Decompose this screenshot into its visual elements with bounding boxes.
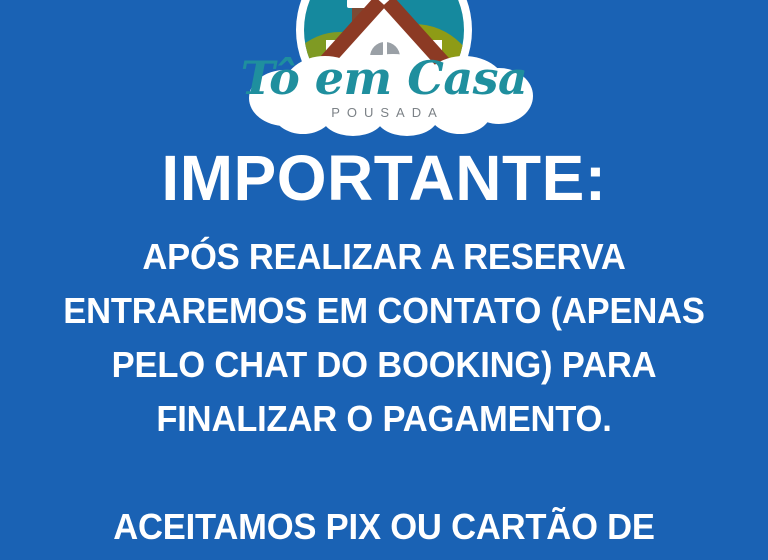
announcement-line <box>15 446 752 500</box>
poster-canvas: Tô em Casa POUSADA IMPORTANTE: APÓS REAL… <box>0 0 768 560</box>
brand-logo-inner: Tô em Casa POUSADA <box>234 0 534 142</box>
brand-name: Tô em Casa <box>234 52 534 104</box>
brand-logo: Tô em Casa POUSADA <box>0 0 768 142</box>
announcement-line: ENTRAREMOS EM CONTATO (APENAS <box>15 284 752 338</box>
announcement-line: FINALIZAR O PAGAMENTO. <box>15 392 752 446</box>
announcement-line: PELO CHAT DO BOOKING) PARA <box>15 338 752 392</box>
announcement-line: ACEITAMOS PIX OU CARTÃO DE <box>15 500 752 554</box>
brand-subtitle: POUSADA <box>234 105 534 120</box>
announcement-line: APÓS REALIZAR A RESERVA <box>15 230 752 284</box>
announcement-body: APÓS REALIZAR A RESERVAENTRAREMOS EM CON… <box>0 230 768 554</box>
page-title: IMPORTANTE: <box>0 143 768 213</box>
